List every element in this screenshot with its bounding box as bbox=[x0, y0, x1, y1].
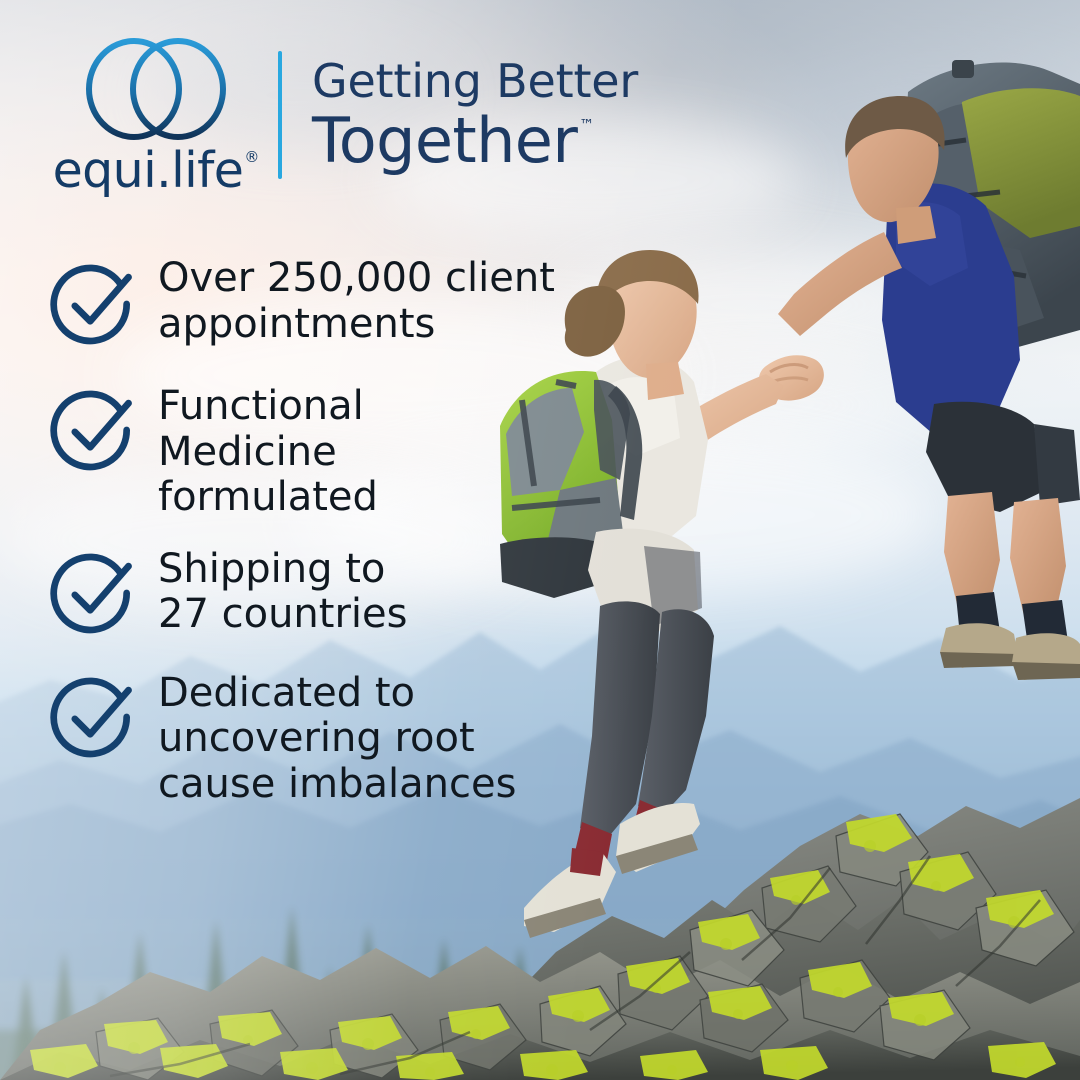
bullet-line: Medicine bbox=[158, 430, 378, 476]
list-item: Shipping to 27 countries bbox=[46, 541, 606, 641]
trademark-mark: ™ bbox=[579, 118, 593, 133]
list-item: Over 250,000 client appointments bbox=[46, 250, 606, 352]
tagline-line-2: Together bbox=[312, 110, 577, 172]
bullet-line: uncovering root bbox=[158, 716, 516, 762]
bullet-line: 27 countries bbox=[158, 592, 407, 638]
bullet-line: cause imbalances bbox=[158, 762, 516, 808]
circle-check-icon bbox=[46, 545, 142, 641]
logo-lockup[interactable]: equi.life ® bbox=[46, 34, 266, 195]
wordmark: equi.life ® bbox=[53, 146, 260, 195]
list-item: Functional Medicine formulated bbox=[46, 378, 606, 521]
list-item-label: Dedicated to uncovering root cause imbal… bbox=[158, 665, 516, 808]
promotional-banner: equi.life ® Getting Better Together ™ Ov… bbox=[0, 0, 1080, 1080]
circle-check-icon bbox=[46, 256, 142, 352]
tagline-line-1: Getting Better bbox=[312, 58, 638, 104]
bullet-line: Functional bbox=[158, 384, 378, 430]
tagline-line-2-wrap: Together ™ bbox=[312, 110, 638, 172]
bullet-line: Over 250,000 client bbox=[158, 256, 555, 302]
bullet-line: Shipping to bbox=[158, 547, 407, 593]
circle-check-icon bbox=[46, 382, 142, 478]
list-item: Dedicated to uncovering root cause imbal… bbox=[46, 665, 606, 808]
brand-header: equi.life ® Getting Better Together ™ bbox=[46, 34, 638, 195]
list-item-label: Functional Medicine formulated bbox=[158, 378, 378, 521]
registered-mark: ® bbox=[244, 150, 259, 165]
circle-check-icon bbox=[46, 669, 142, 765]
bullet-line: Dedicated to bbox=[158, 671, 516, 717]
bullet-line: formulated bbox=[158, 475, 378, 521]
wordmark-text: equi.life bbox=[53, 146, 244, 195]
benefits-list: Over 250,000 client appointments Functio… bbox=[46, 250, 606, 834]
bullet-line: appointments bbox=[158, 302, 555, 348]
list-item-label: Shipping to 27 countries bbox=[158, 541, 407, 638]
two-overlapping-circles-icon bbox=[82, 34, 230, 144]
vertical-divider bbox=[278, 51, 282, 179]
list-item-label: Over 250,000 client appointments bbox=[158, 250, 555, 347]
tagline: Getting Better Together ™ bbox=[312, 58, 638, 172]
